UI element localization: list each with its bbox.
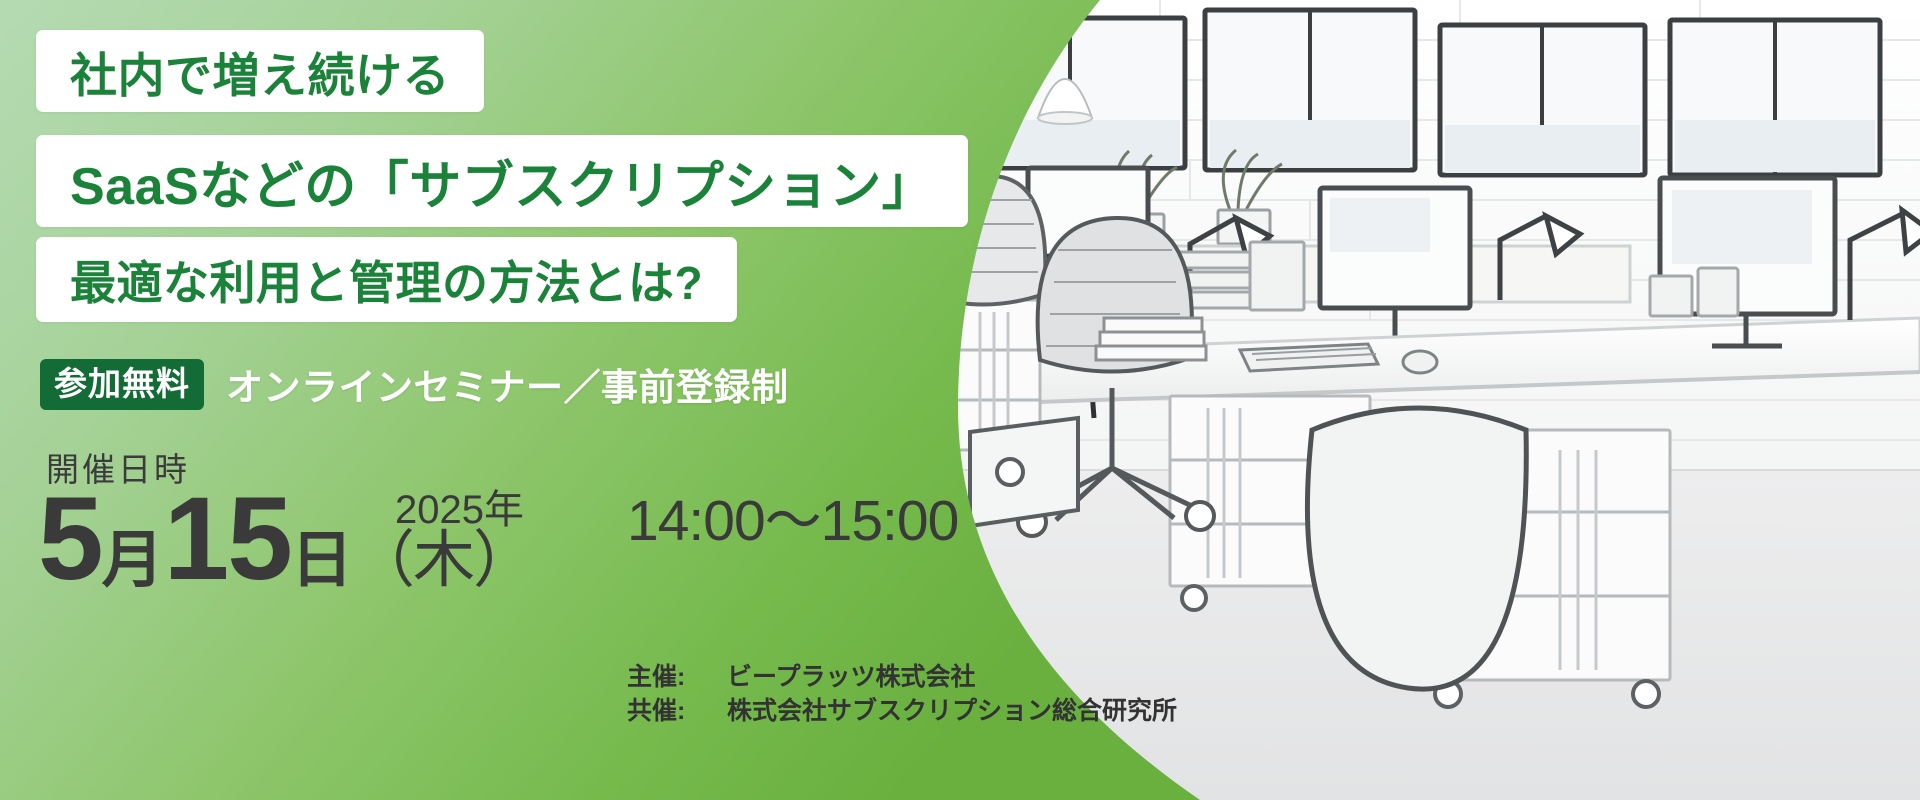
weekday: （木） [353, 530, 533, 598]
seminar-banner: 社内で増え続ける SaaSなどの「サブスクリプション」 最適な利用と管理の方法と… [0, 0, 1920, 800]
badge-row: 参加無料 オンラインセミナー／事前登録制 [40, 357, 789, 411]
headline-line-2: SaaSなどの「サブスクリプション」 [70, 144, 934, 219]
day-unit: 日 [291, 530, 353, 598]
host-row-organizer: 主催: ビープラッツ株式会社 [627, 661, 1177, 695]
seminar-type-label: オンラインセミナー／事前登録制 [226, 357, 789, 411]
host-row-cohost: 共催: 株式会社サブスクリプション総合研究所 [627, 695, 1177, 729]
headline-box-1: 社内で増え続ける [36, 30, 484, 112]
headline-line-1: 社内で増え続ける [70, 37, 450, 106]
cohost-name: 株式会社サブスクリプション総合研究所 [727, 695, 1177, 729]
free-participation-badge: 参加無料 [40, 359, 204, 410]
cohost-label: 共催: [627, 695, 727, 729]
event-year: 2025年 [395, 477, 524, 535]
banner-content: 社内で増え続ける SaaSなどの「サブスクリプション」 最適な利用と管理の方法と… [0, 0, 1150, 800]
month-number: 5 [38, 480, 102, 598]
day-number: 15 [164, 480, 291, 598]
month-unit: 月 [102, 530, 164, 598]
headline-box-3: 最適な利用と管理の方法とは? [36, 237, 737, 322]
headline-box-2: SaaSなどの「サブスクリプション」 [36, 135, 968, 227]
organizer-name: ビープラッツ株式会社 [727, 661, 976, 695]
organizer-label: 主催: [627, 661, 727, 695]
headline-line-3: 最適な利用と管理の方法とは? [70, 247, 703, 313]
event-time: 14:00〜15:00 [627, 475, 958, 557]
host-list: 主催: ビープラッツ株式会社 共催: 株式会社サブスクリプション総合研究所 [627, 661, 1177, 728]
